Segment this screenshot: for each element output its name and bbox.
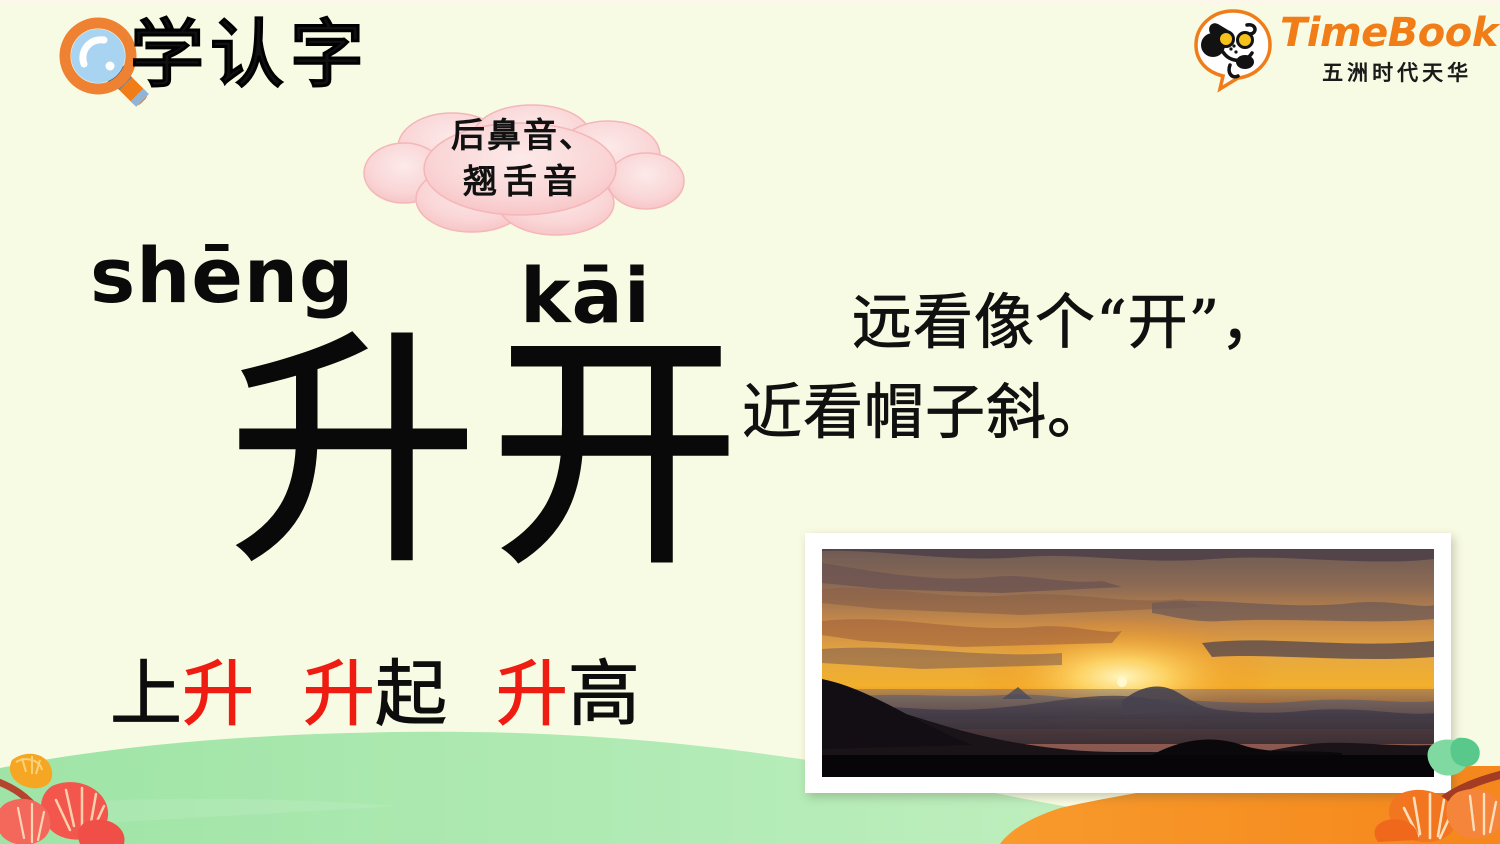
- word-1-prefix: 上: [110, 652, 182, 736]
- logo-chinese-name: 五洲时代天华: [1280, 57, 1500, 87]
- riddle-text: 远看像个“开”， 近看帽子斜。: [742, 278, 1482, 458]
- brand-logo: TimeBook® 五洲时代天华: [1190, 4, 1480, 96]
- pronunciation-note-cloud: 后鼻音、 翘舌音: [358, 100, 688, 238]
- flower-decoration-left: [0, 734, 144, 844]
- word-item-1: 上升: [110, 652, 254, 736]
- flower-decoration-right: [1374, 736, 1500, 844]
- logo-brand-name: TimeBook®: [1280, 13, 1500, 53]
- cloud-note-line1: 后鼻音、: [451, 116, 595, 156]
- sunrise-photo-frame: [805, 533, 1451, 793]
- hanzi-kai: 开: [490, 330, 740, 580]
- word-1-highlight: 升: [182, 652, 254, 736]
- word-item-2: 升起: [303, 652, 447, 736]
- cloud-note-text: 后鼻音、 翘舌音: [358, 114, 688, 206]
- word-item-3: 升高: [496, 652, 640, 736]
- word-list: 上升 升起 升高: [110, 658, 666, 730]
- slide-canvas: 学认字 TimeBook® 五洲时代天华: [0, 0, 1500, 844]
- word-2-highlight: 升: [303, 652, 375, 736]
- word-3-suffix: 高: [568, 652, 640, 736]
- hanzi-sheng: 升: [228, 328, 478, 578]
- pinyin-sheng: shēng: [90, 238, 354, 314]
- word-2-suffix: 起: [375, 652, 447, 736]
- cloud-note-line2: 翘舌音: [358, 160, 688, 206]
- riddle-line-2: 近看帽子斜。: [742, 368, 1482, 458]
- page-title: 学认字: [130, 18, 370, 92]
- dog-speech-bubble-icon: [1190, 7, 1276, 93]
- sunrise-photo: [822, 549, 1434, 777]
- riddle-line-1: 远看像个“开”，: [742, 278, 1482, 368]
- word-3-highlight: 升: [496, 652, 568, 736]
